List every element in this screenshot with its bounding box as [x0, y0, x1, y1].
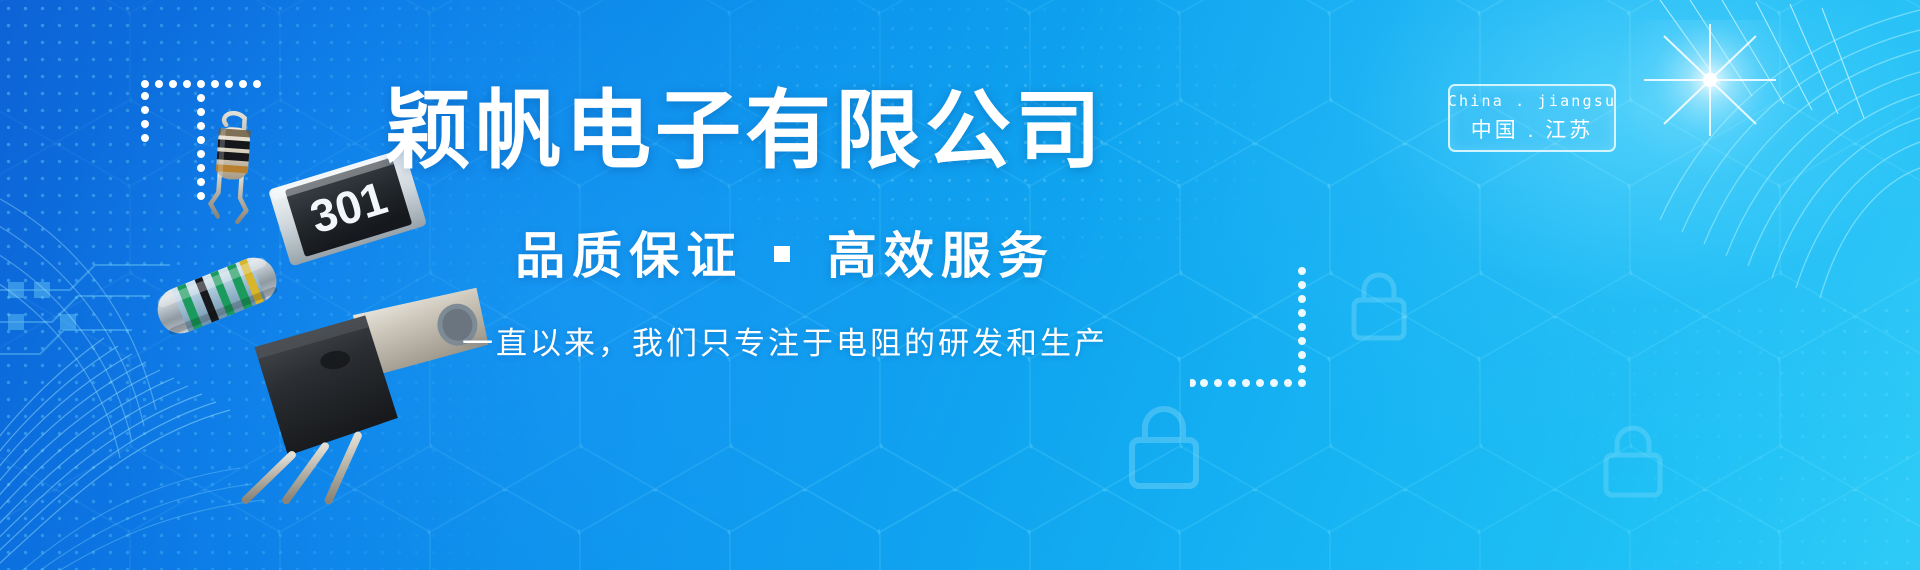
region-badge-chinese: 中国 . 江苏 [1471, 114, 1594, 144]
wave-lines-right [1360, 0, 1920, 340]
page-title: 颖帆电子有限公司 [385, 85, 1185, 178]
padlock-icon [1600, 420, 1666, 500]
separator-square-icon [774, 246, 790, 262]
region-badge: China . jiangsu 中国 . 江苏 [1448, 84, 1616, 152]
padlock-icon [1125, 400, 1203, 492]
banner-subtitle: 品质保证 高效服务 [385, 216, 1185, 288]
banner-tagline: 一直以来，我们只专注于电阻的研发和生产 [385, 318, 1185, 363]
subtitle-left: 品质保证 [515, 228, 743, 284]
padlock-icon [1348, 268, 1410, 342]
region-badge-english: China . jiangsu [1448, 92, 1616, 110]
corner-bracket-icon [1190, 265, 1320, 400]
subtitle-right: 高效服务 [827, 228, 1055, 284]
banner-copy: 颖帆电子有限公司 品质保证 高效服务 一直以来，我们只专注于电阻的研发和生产 [385, 85, 1185, 363]
promo-banner: 301 颖帆电子有限公司 品质保证 高效服务 一直以来，我 [0, 0, 1920, 570]
